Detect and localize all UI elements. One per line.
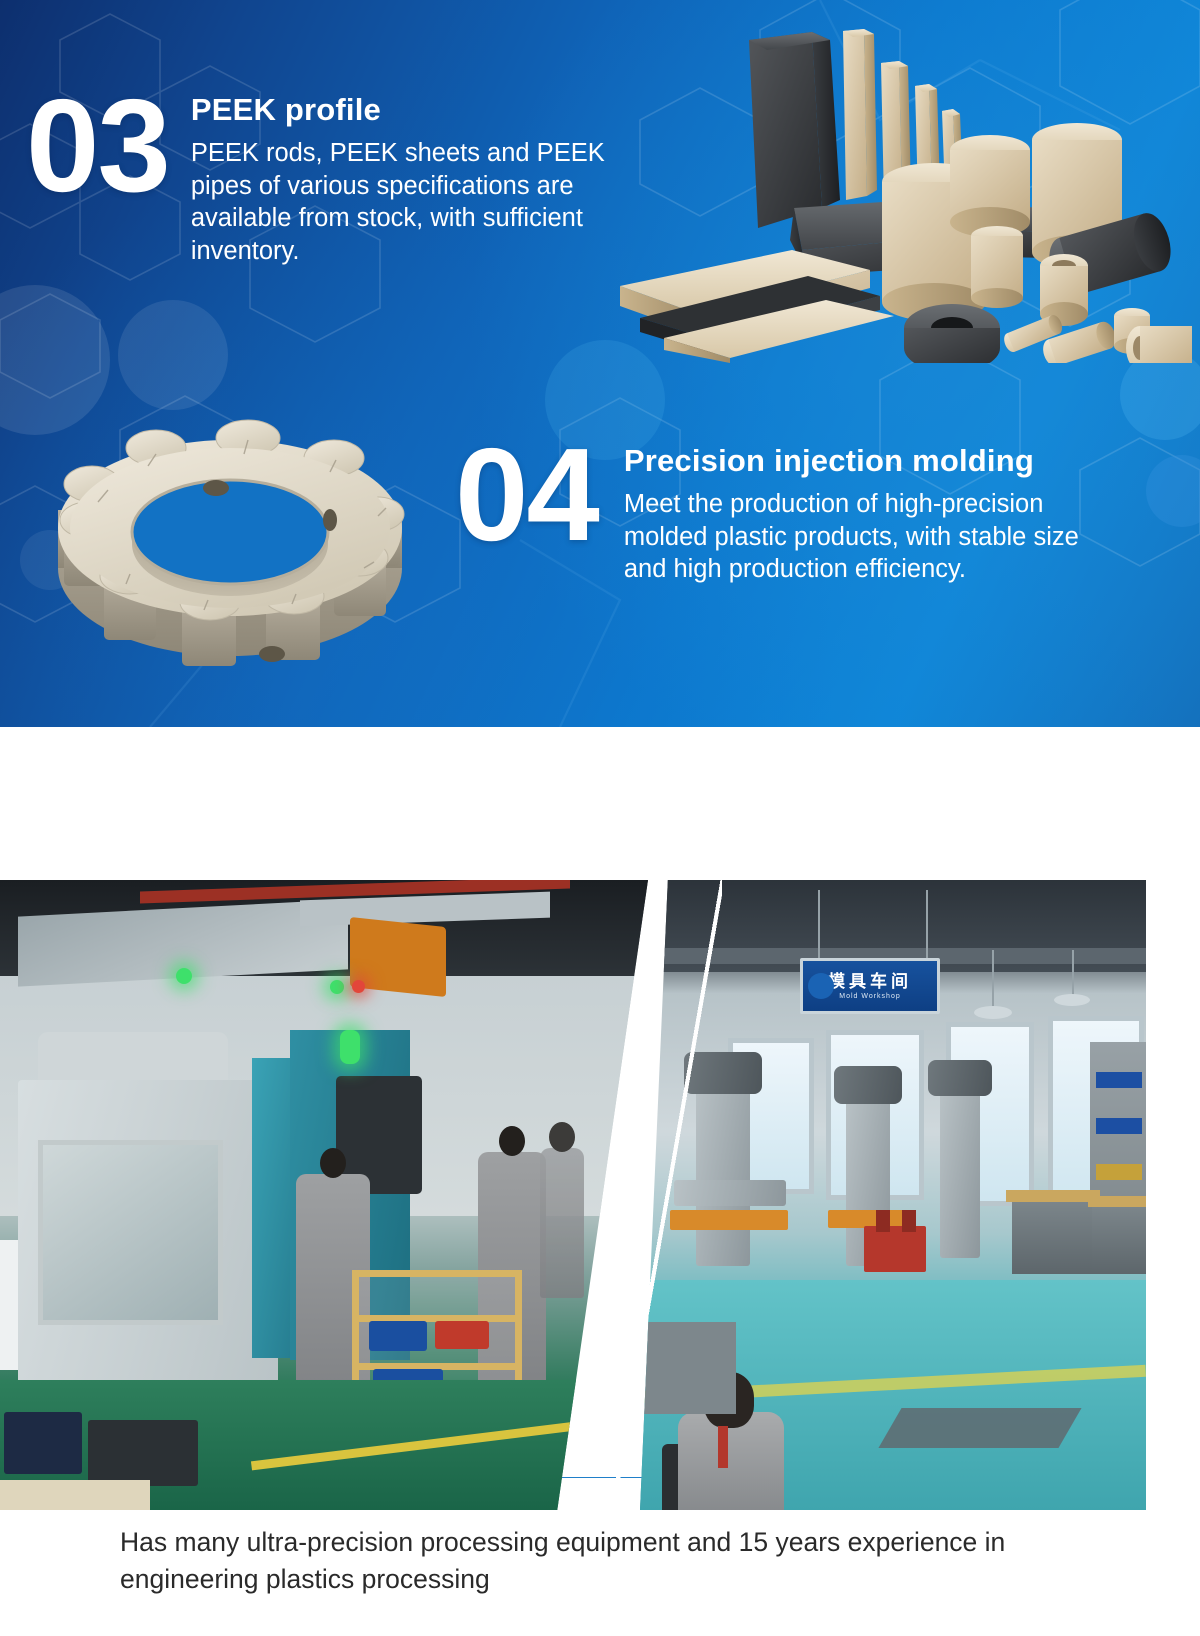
feature-block-04: 04 Precision injection molding Meet the …: [455, 437, 1094, 586]
decorative-circle: [1120, 350, 1200, 440]
worker-figure: [540, 1148, 584, 1298]
milling-machine: [940, 1088, 980, 1258]
work-bench: [1092, 1204, 1146, 1274]
feature-block-03: 03 PEEK profile PEEK rods, PEEK sheets a…: [26, 88, 621, 268]
feature-description-03: PEEK rods, PEEK sheets and PEEK pipes of…: [191, 137, 621, 268]
caption-section: Has many ultra-precision processing equi…: [0, 1510, 1200, 1636]
company-logo-icon: [808, 973, 834, 999]
mold-workshop-sign: 模具车间 Mold Workshop: [800, 958, 940, 1014]
milling-machine: [696, 1076, 750, 1266]
peek-profile-products-image: [612, 18, 1192, 363]
peek-gear-ring-image: [34, 392, 426, 672]
work-bench: [1012, 1198, 1094, 1274]
feature-number-04: 04: [455, 437, 598, 553]
caption-text: Has many ultra-precision processing equi…: [120, 1524, 1080, 1597]
workshop-photo-collage: 模具车间 Mold Workshop: [0, 880, 1146, 1510]
feature-number-03: 03: [26, 88, 169, 204]
feature-description-04: Meet the production of high-precision mo…: [624, 488, 1094, 586]
sign-text-english: Mold Workshop: [839, 993, 901, 1000]
hero-blue-panel: 03 PEEK profile PEEK rods, PEEK sheets a…: [0, 0, 1200, 727]
hydraulic-press: [864, 1226, 926, 1272]
feature-title-03: PEEK profile: [191, 92, 621, 128]
mold-workshop-photo: 模具车间 Mold Workshop: [640, 880, 1146, 1510]
our-strengths-banner: Our strengths: [0, 727, 1200, 880]
product-landing-page: 03 PEEK profile PEEK rods, PEEK sheets a…: [0, 0, 1200, 1636]
cnc-machining-workshop-photo: [0, 880, 648, 1510]
feature-title-04: Precision injection molding: [624, 443, 1094, 479]
sign-text-chinese: 模具车间: [828, 973, 912, 990]
